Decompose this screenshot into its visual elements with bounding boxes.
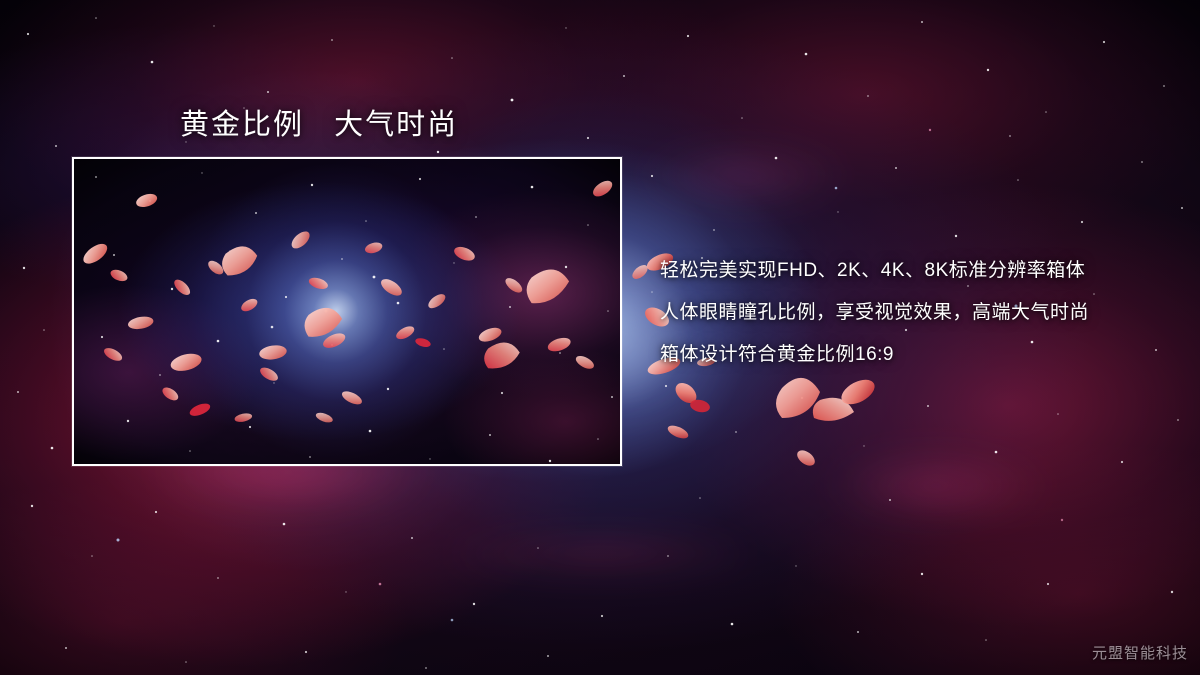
body-text-block: 轻松完美实现FHD、2K、4K、8K标准分辨率箱体 人体眼睛瞳孔比例，享受视觉效…: [660, 250, 1180, 376]
body-line-2: 人体眼睛瞳孔比例，享受视觉效果，高端大气时尚: [660, 292, 1180, 334]
image-panel-starfield: [74, 159, 620, 464]
image-panel: [72, 157, 622, 466]
watermark: 元盟智能科技: [1092, 642, 1188, 663]
body-line-1: 轻松完美实现FHD、2K、4K、8K标准分辨率箱体: [660, 250, 1180, 292]
body-line-3: 箱体设计符合黄金比例16:9: [660, 334, 1180, 376]
page-title: 黄金比例 大气时尚: [180, 101, 458, 143]
presentation-slide: 黄金比例 大气时尚 轻松完美实现FHD、2K、4K、8K标准分辨率箱体 人体眼睛…: [0, 0, 1200, 675]
